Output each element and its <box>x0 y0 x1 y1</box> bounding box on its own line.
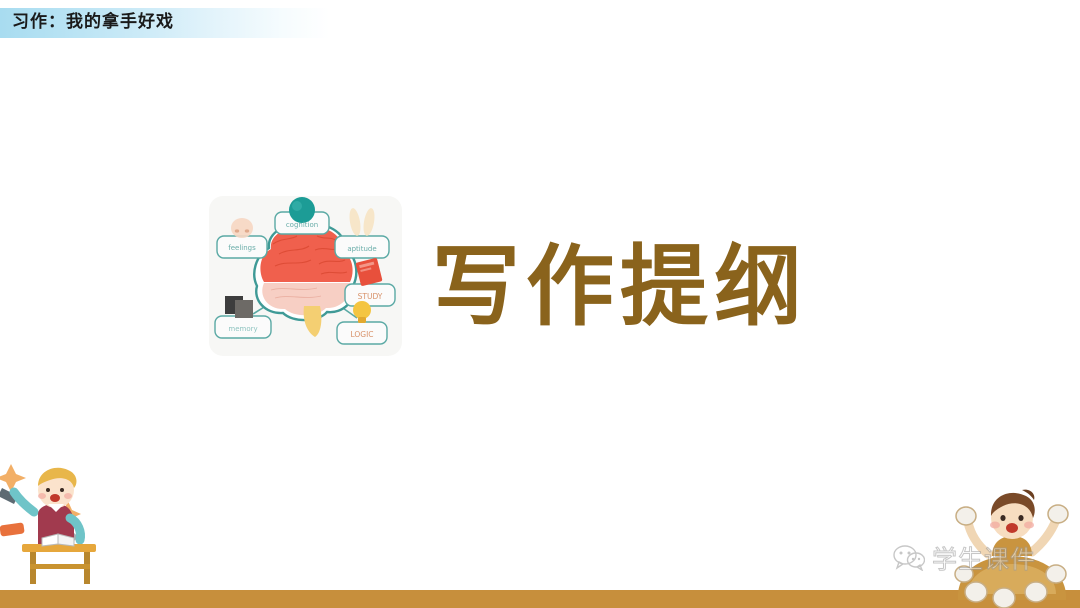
node-label-feelings: feelings <box>228 244 256 252</box>
watermark-text: 学生课件 <box>932 540 1036 576</box>
node-label-study: STUDY <box>358 292 383 301</box>
node-feelings: feelings <box>217 218 267 258</box>
node-label-memory: memory <box>228 325 257 333</box>
slide-heading: 写作提纲 <box>432 237 808 337</box>
boy-at-desk-illustration <box>0 452 120 592</box>
node-label-logic: LOGIC <box>350 330 373 339</box>
desk-figure <box>22 534 96 584</box>
node-aptitude: aptitude <box>335 207 389 258</box>
wechat-icon <box>893 545 925 571</box>
watermark: 学生课件 <box>893 540 1036 576</box>
node-label-aptitude: aptitude <box>347 245 376 253</box>
node-label-cognition: cognition <box>286 221 318 229</box>
slide-canvas: 习作：我的拿手好戏 <box>0 0 1080 608</box>
node-cognition: cognition <box>275 197 329 234</box>
page-title: 习作：我的拿手好戏 <box>12 11 174 33</box>
brain-illustration-card: feelings cognition aptitude <box>209 196 402 356</box>
bottom-accent-bar <box>0 590 1080 608</box>
brain-mind-map-svg: feelings cognition aptitude <box>209 196 402 356</box>
